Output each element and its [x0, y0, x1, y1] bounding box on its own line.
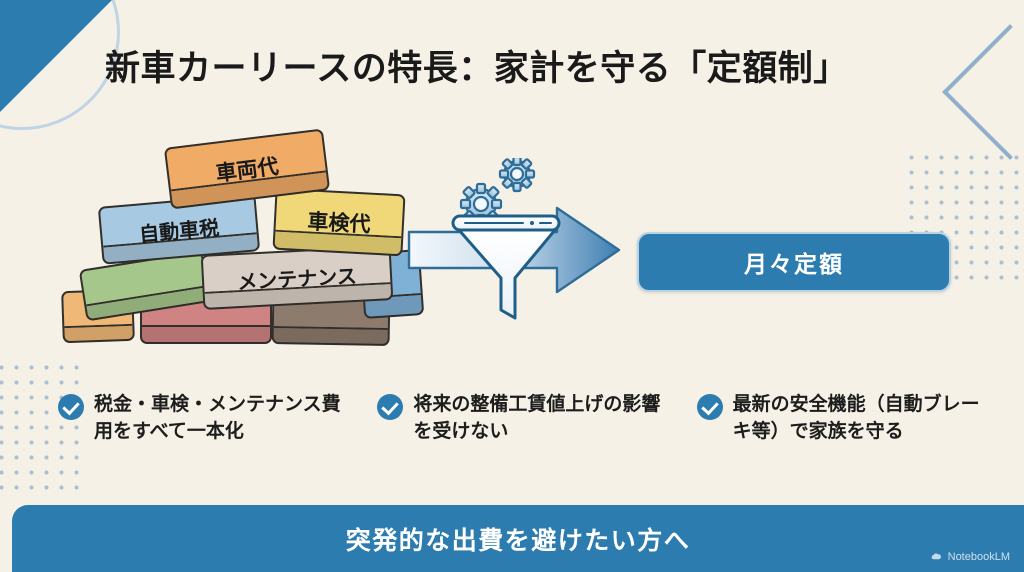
- check-circle-icon: [58, 394, 84, 420]
- chevron-outline-decoration: [942, 24, 1024, 160]
- funnel-arrow-icon: [405, 158, 637, 328]
- result-pill-label: 月々定額: [744, 245, 844, 279]
- funnel-process-graphic: [405, 158, 637, 328]
- benefits-list: 税金・車検・メンテナンス費用をすべて一本化 将来の整備工賃値上げの影響を受けない…: [58, 392, 998, 446]
- check-circle-icon: [377, 394, 403, 420]
- notebooklm-watermark-label: NotebookLM: [948, 551, 1010, 563]
- benefit-item-2-text: 将来の整備工賃値上げの影響を受けない: [413, 392, 678, 446]
- result-pill: 月々定額: [637, 232, 951, 292]
- bottom-banner: 突発的な出費を避けたい方へ NotebookLM: [12, 505, 1024, 572]
- corner-triangle-decoration: [0, 0, 112, 112]
- cost-blocks-illustration: メンテナンス 自動車税 車検代 車両代: [62, 138, 412, 353]
- notebooklm-watermark: NotebookLM: [930, 550, 1010, 563]
- slide-canvas: 新車カーリースの特長：家計を守る「定額制」 メンテナンス 自動車税 車検代 車両…: [0, 0, 1024, 572]
- benefit-item-1: 税金・車検・メンテナンス費用をすべて一本化: [58, 392, 359, 446]
- benefit-item-3-text: 最新の安全機能（自動ブレーキ等）で家族を守る: [733, 392, 998, 446]
- cost-block-maintenance: メンテナンス: [201, 245, 394, 310]
- page-title: 新車カーリースの特長：家計を守る「定額制」: [105, 40, 849, 91]
- notebooklm-icon: [930, 550, 943, 563]
- bottom-banner-text: 突発的な出費を避けたい方へ: [346, 521, 691, 557]
- benefit-item-2: 将来の整備工賃値上げの影響を受けない: [377, 392, 678, 446]
- benefit-item-1-text: 税金・車検・メンテナンス費用をすべて一本化: [94, 392, 359, 446]
- benefit-item-3: 最新の安全機能（自動ブレーキ等）で家族を守る: [697, 392, 998, 446]
- cost-block-inspection-label: 車検代: [307, 205, 371, 238]
- cost-block-inspection: 車検代: [272, 188, 405, 257]
- check-circle-icon: [697, 394, 723, 420]
